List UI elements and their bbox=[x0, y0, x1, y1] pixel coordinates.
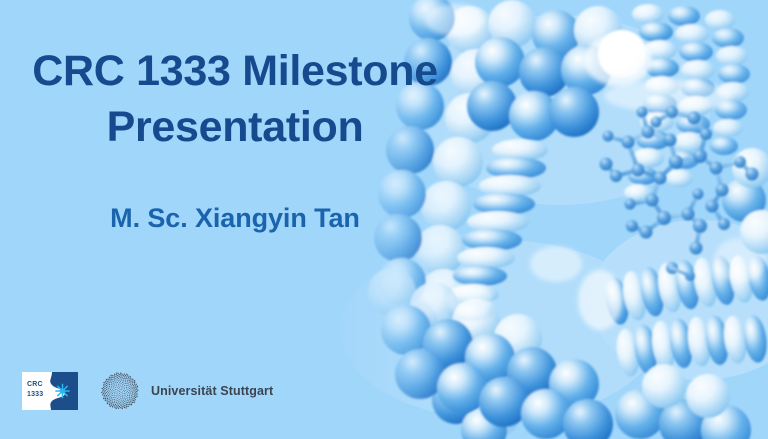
ball-and-stick-molecule bbox=[600, 106, 759, 255]
crc-logo-line2: 1333 bbox=[27, 390, 43, 400]
crc-logo-line1: CRC bbox=[27, 380, 43, 390]
presentation-slide: CRC 1333 Milestone Presentation M. Sc. X… bbox=[0, 0, 768, 439]
logo-bar: CRC 1333 Universität Stuttgart bbox=[22, 371, 273, 411]
dotted-circle-icon bbox=[100, 371, 140, 411]
presenter-name: M. Sc. Xiangyin Tan bbox=[8, 202, 462, 234]
universitaet-stuttgart-logo: Universität Stuttgart bbox=[100, 371, 273, 411]
crc-1333-logo: CRC 1333 bbox=[22, 372, 78, 410]
crc-logo-text: CRC 1333 bbox=[27, 380, 43, 400]
universitaet-stuttgart-label: Universität Stuttgart bbox=[151, 384, 273, 398]
page-title: CRC 1333 Milestone Presentation bbox=[8, 44, 462, 156]
